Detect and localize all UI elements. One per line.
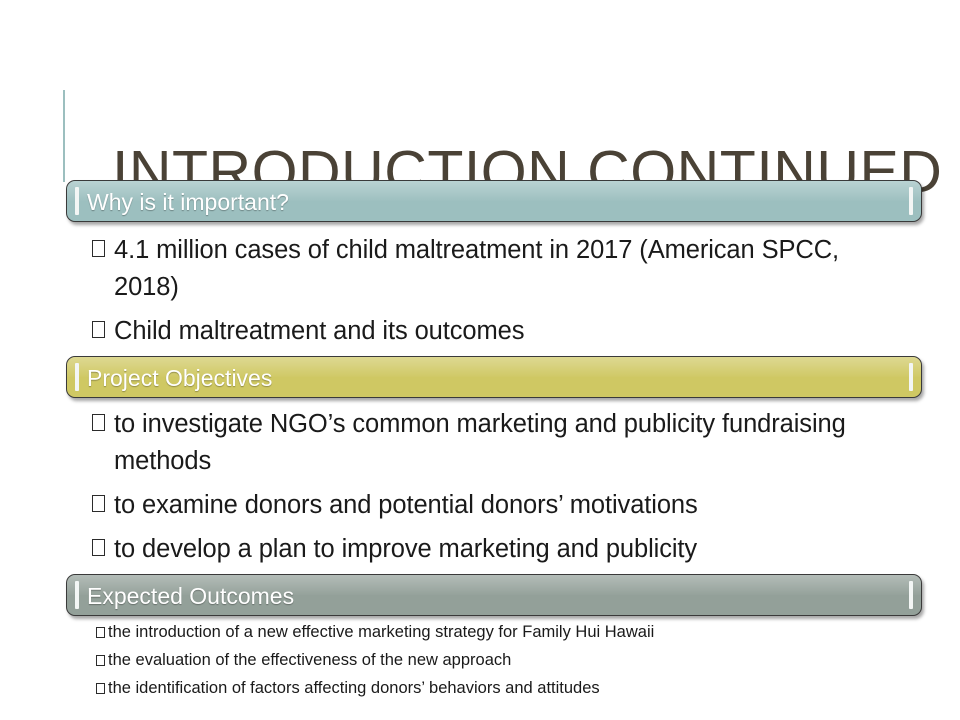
list-item: to develop a plan to improve marketing a… bbox=[92, 531, 882, 568]
banner-left-bar-outcomes bbox=[75, 581, 79, 609]
empty-box-bullet-icon bbox=[92, 495, 105, 512]
section-banner-label-why: Why is it important? bbox=[87, 181, 289, 222]
banner-left-bar-why bbox=[75, 187, 79, 215]
bullet-list-why: 4.1 million cases of child maltreatment … bbox=[92, 232, 892, 357]
list-item: the introduction of a new effective mark… bbox=[96, 623, 856, 642]
empty-box-bullet-icon bbox=[96, 627, 105, 638]
list-item-text: the introduction of a new effective mark… bbox=[108, 623, 856, 642]
section-banner-label-objectives: Project Objectives bbox=[87, 357, 272, 398]
list-item-text: to develop a plan to improve marketing a… bbox=[114, 531, 882, 568]
list-item-text: the identification of factors affecting … bbox=[108, 679, 856, 698]
banner-right-bar-outcomes bbox=[909, 581, 913, 609]
banner-left-bar-objectives bbox=[75, 363, 79, 391]
section-banner-label-outcomes: Expected Outcomes bbox=[87, 575, 294, 616]
empty-box-bullet-icon bbox=[92, 539, 105, 556]
list-item-text: the evaluation of the effectiveness of t… bbox=[108, 651, 856, 670]
list-item-text: to examine donors and potential donors’ … bbox=[114, 487, 882, 524]
empty-box-bullet-icon bbox=[92, 321, 105, 338]
banner-right-bar-objectives bbox=[909, 363, 913, 391]
list-item: to investigate NGO’s common marketing an… bbox=[92, 406, 882, 480]
list-item: the evaluation of the effectiveness of t… bbox=[96, 651, 856, 670]
banner-right-bar-why bbox=[909, 187, 913, 215]
section-banner-why: Why is it important? bbox=[66, 180, 922, 222]
list-item-text: to investigate NGO’s common marketing an… bbox=[114, 406, 882, 480]
section-banner-objectives: Project Objectives bbox=[66, 356, 922, 398]
presentation-slide: INTRODUCTION CONTINUED Why is it importa… bbox=[0, 0, 960, 720]
empty-box-bullet-icon bbox=[96, 655, 105, 666]
empty-box-bullet-icon bbox=[92, 414, 105, 431]
list-item: Child maltreatment and its outcomes bbox=[92, 313, 892, 350]
bullet-list-outcomes: the introduction of a new effective mark… bbox=[96, 623, 856, 707]
title-accent-line bbox=[63, 90, 65, 182]
empty-box-bullet-icon bbox=[96, 683, 105, 694]
list-item-text: 4.1 million cases of child maltreatment … bbox=[114, 232, 892, 306]
bullet-list-objectives: to investigate NGO’s common marketing an… bbox=[92, 406, 882, 575]
section-banner-outcomes: Expected Outcomes bbox=[66, 574, 922, 616]
empty-box-bullet-icon bbox=[92, 240, 105, 257]
list-item: 4.1 million cases of child maltreatment … bbox=[92, 232, 892, 306]
list-item: to examine donors and potential donors’ … bbox=[92, 487, 882, 524]
list-item: the identification of factors affecting … bbox=[96, 679, 856, 698]
list-item-text: Child maltreatment and its outcomes bbox=[114, 313, 892, 350]
